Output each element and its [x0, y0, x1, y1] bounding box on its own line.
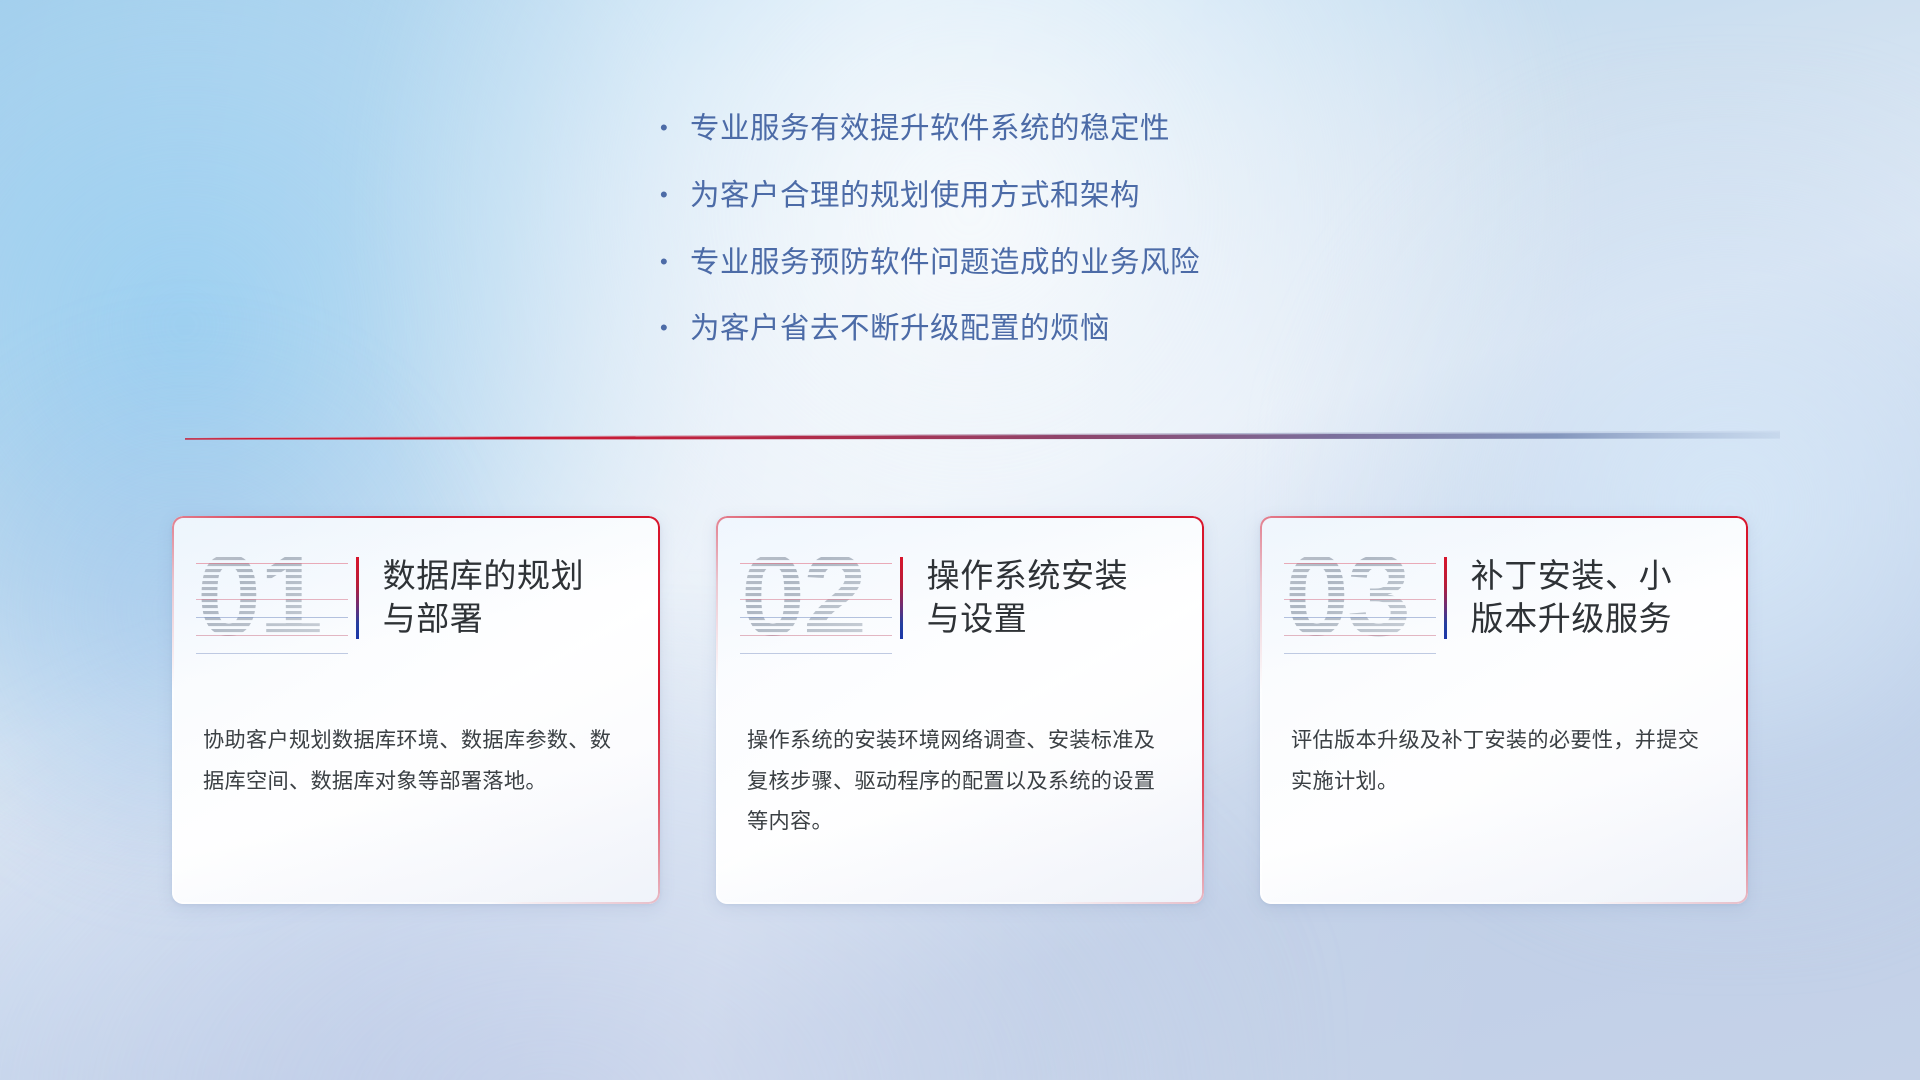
list-item: • 为客户合理的规划使用方式和架构 [660, 177, 1540, 215]
service-card-03[interactable]: 03 补丁安装、小 版本升级服务 评估版本升级及补丁安装的必要性，并提交实施计 [1260, 516, 1748, 904]
striped-number-icon: 03 [1284, 539, 1436, 657]
card-watermark-number: 03 [1284, 539, 1436, 657]
card-header: 01 数据库的规划 与部署 [172, 532, 660, 664]
card-title-line-1: 操作系统安装 [927, 555, 1129, 598]
card-title-line-2: 版本升级服务 [1471, 598, 1673, 641]
card-body-text: 操作系统的安装环境网络调查、安装标准及复核步骤、驱动程序的配置以及系统的设置等内… [747, 721, 1176, 843]
card-title-line-2: 与设置 [927, 598, 1129, 641]
bullet-text: 为客户合理的规划使用方式和架构 [690, 177, 1140, 215]
striped-number-icon: 02 [740, 539, 892, 657]
card-title-divider [900, 557, 903, 639]
card-title: 数据库的规划 与部署 [383, 555, 585, 640]
card-title-line-2: 与部署 [383, 598, 585, 641]
list-item: • 专业服务有效提升软件系统的稳定性 [660, 110, 1540, 148]
bullet-dot-icon: • [660, 184, 690, 206]
card-watermark-number: 01 [196, 539, 348, 657]
bullet-text: 专业服务预防软件问题造成的业务风险 [690, 244, 1200, 282]
service-cards-row: 01 数据库的规划 与部署 协助客户规划数据库环境、数据 [0, 516, 1920, 904]
card-title-line-1: 补丁安装、小 [1471, 555, 1673, 598]
card-title-divider [356, 557, 359, 639]
bullet-dot-icon: • [660, 317, 690, 339]
card-title: 操作系统安装 与设置 [927, 555, 1129, 640]
card-title-divider [1444, 557, 1447, 639]
card-watermark-number: 02 [740, 539, 892, 657]
striped-number-icon: 01 [196, 539, 348, 657]
service-card-01[interactable]: 01 数据库的规划 与部署 协助客户规划数据库环境、数据 [172, 516, 660, 904]
bullet-text: 专业服务有效提升软件系统的稳定性 [690, 110, 1170, 148]
card-header: 03 补丁安装、小 版本升级服务 [1260, 532, 1748, 664]
bullet-text: 为客户省去不断升级配置的烦恼 [690, 310, 1110, 348]
card-header: 02 操作系统安装 与设置 [716, 532, 1204, 664]
bullet-dot-icon: • [660, 117, 690, 139]
card-title-line-1: 数据库的规划 [383, 555, 585, 598]
list-item: • 专业服务预防软件问题造成的业务风险 [660, 244, 1540, 282]
card-body-text: 协助客户规划数据库环境、数据库参数、数据库空间、数据库对象等部署落地。 [203, 721, 632, 802]
benefits-bullet-list: • 专业服务有效提升软件系统的稳定性 • 为客户合理的规划使用方式和架构 • 专… [660, 110, 1540, 377]
bullet-dot-icon: • [660, 251, 690, 273]
service-card-02[interactable]: 02 操作系统安装 与设置 操作系统的安装环境网络调查、安装标准及复核步骤、驱 [716, 516, 1204, 904]
card-body-text: 评估版本升级及补丁安装的必要性，并提交实施计划。 [1291, 721, 1720, 802]
list-item: • 为客户省去不断升级配置的烦恼 [660, 310, 1540, 348]
accent-divider-line [185, 427, 1780, 445]
card-title: 补丁安装、小 版本升级服务 [1471, 555, 1673, 640]
